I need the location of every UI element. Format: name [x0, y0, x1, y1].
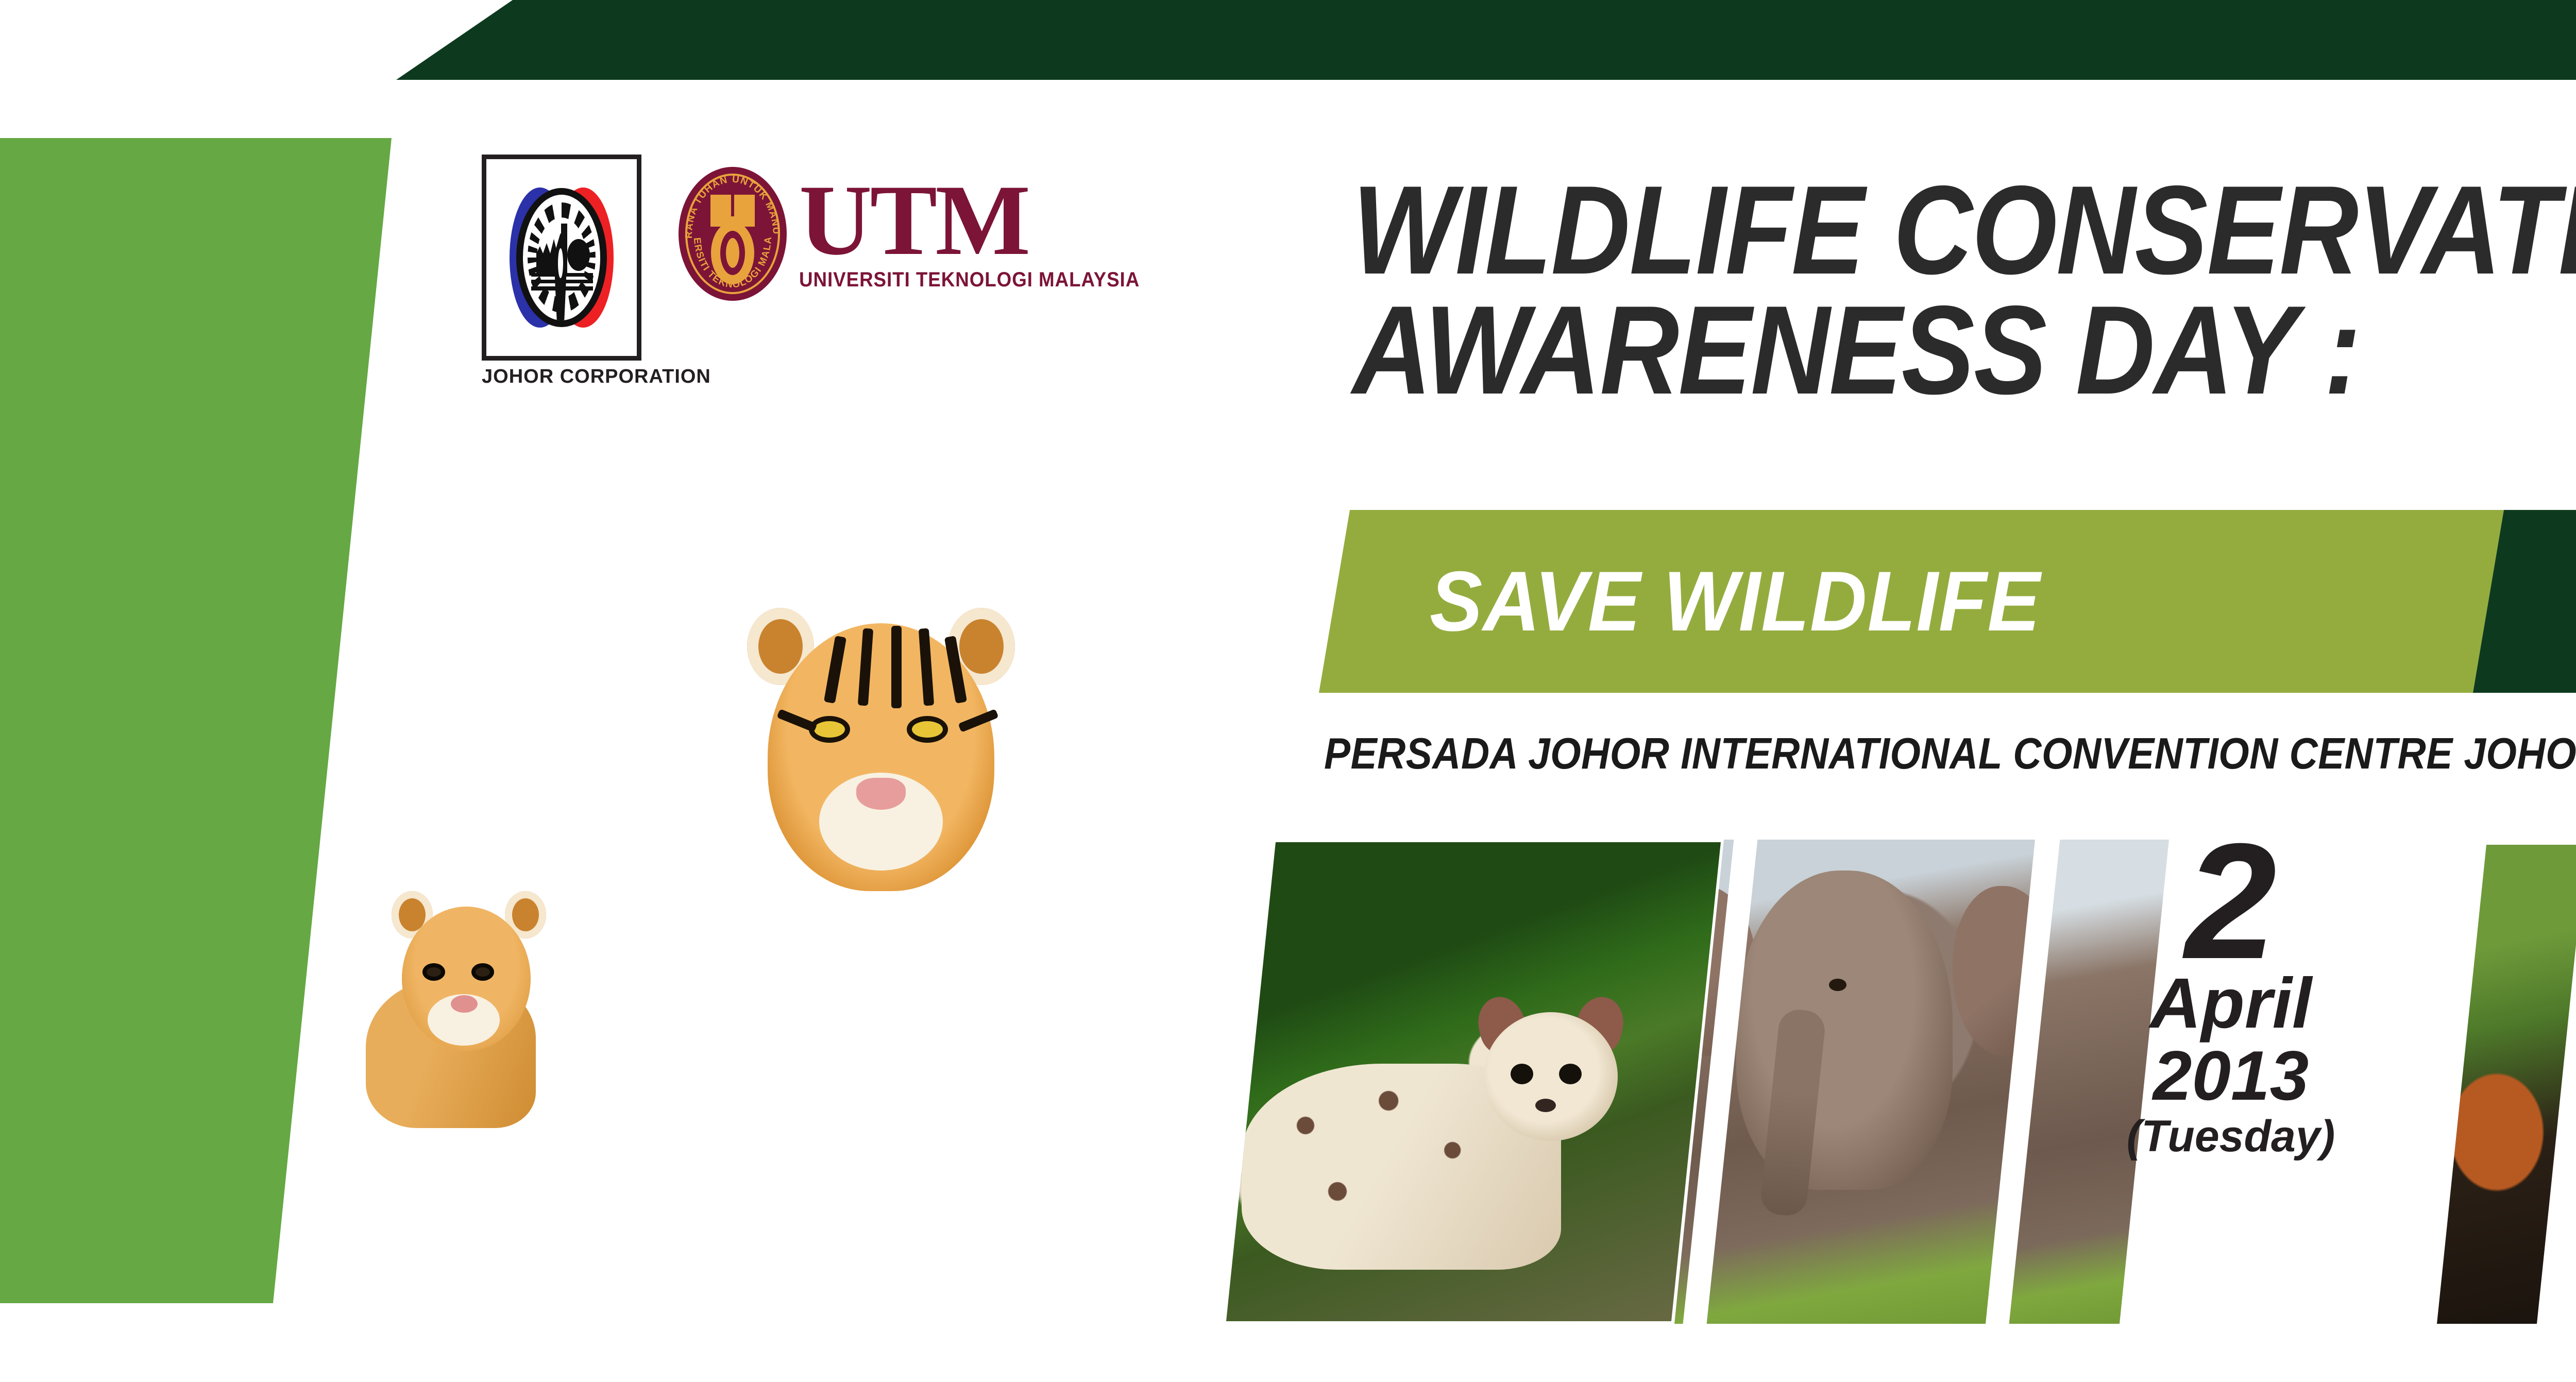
cat-eye-left: [1511, 1064, 1533, 1084]
event-date-month: April: [2050, 967, 2411, 1040]
photo-clouded-leopard-cat: [1226, 842, 1721, 1321]
slogan-text-save-wildlife: SAVE WILDLIFE: [1430, 553, 2041, 650]
slogan-bar-save-wildlife: SAVE WILDLIFE: [1319, 510, 2504, 693]
dome-icon: [567, 239, 590, 271]
svg-text:KERANA TUHAN UNTUK MANUSIA: KERANA TUHAN UNTUK MANUSIA: [679, 167, 782, 238]
tiger-cub-eye-right: [471, 963, 494, 981]
utm-motto-top: KERANA TUHAN UNTUK MANUSIA: [679, 167, 782, 238]
photo-orangutan-sliver: [2437, 845, 2576, 1324]
event-title: WILDLIFE CONSERVATION AWARENESS DAY :: [1352, 170, 2576, 410]
elephant-eye: [1829, 979, 1846, 991]
tiger-stripe: [891, 626, 902, 708]
utm-logo: KERANA TUHAN UNTUK MANUSIA UNIVERSITI TE…: [679, 167, 1170, 301]
tiger-nose: [856, 778, 906, 810]
utm-wordmark: UTM UNIVERSITI TEKNOLOGI MALAYSIA: [799, 179, 1170, 288]
tiger-face: [737, 587, 1025, 907]
logo-row: JOHOR CORPORATION KERANA TUHAN UNTUK MAN…: [482, 155, 1170, 388]
utm-wordmark-text: UTM: [799, 164, 1028, 276]
jcorp-logo-caption: JOHOR CORPORATION: [482, 366, 641, 388]
johor-corporation-logo: JOHOR CORPORATION: [482, 155, 641, 388]
jcorp-emblem-icon: [507, 180, 616, 335]
event-date-year: 2013: [2050, 1040, 2411, 1112]
tiger-cub: [366, 886, 572, 1133]
jcorp-logo-frame: [482, 155, 641, 361]
tiger-cub-nose: [451, 995, 478, 1013]
pen-nib-slot: [558, 248, 563, 278]
photo-tiger-and-cub: [196, 494, 1298, 1316]
jcorp-gear-circle: [523, 195, 600, 320]
cat-nose: [1535, 1099, 1556, 1112]
cat-eye-right: [1559, 1064, 1582, 1084]
slogan-bars: SAVE WILDLIFE SAVE LIVES: [1252, 510, 2576, 693]
tiger-eye-right: [907, 716, 948, 743]
event-date-weekday: (Tuesday): [2050, 1113, 2411, 1159]
tiger-cub-eye-left: [422, 963, 445, 981]
utm-crest-motto: KERANA TUHAN UNTUK MANUSIA UNIVERSITI TE…: [679, 167, 787, 301]
event-title-line-1: WILDLIFE CONSERVATION: [1352, 170, 2576, 290]
cat-face: [1484, 1012, 1618, 1141]
cat-head: [1473, 997, 1628, 1151]
event-title-line-2: AWARENESS DAY :: [1352, 290, 2576, 410]
wildlife-conservation-banner: JOHOR CORPORATION KERANA TUHAN UNTUK MAN…: [0, 0, 2576, 1382]
event-date-block: 2 April 2013 (Tuesday): [2050, 832, 2411, 1160]
utm-crest-icon: KERANA TUHAN UNTUK MANUSIA UNIVERSITI TE…: [679, 167, 787, 301]
venue-line: PERSADA JOHOR INTERNATIONAL CONVENTION C…: [1324, 729, 2576, 779]
event-date-day: 2: [2050, 832, 2411, 970]
utm-subtitle: UNIVERSITI TEKNOLOGI MALAYSIA: [799, 271, 1140, 288]
